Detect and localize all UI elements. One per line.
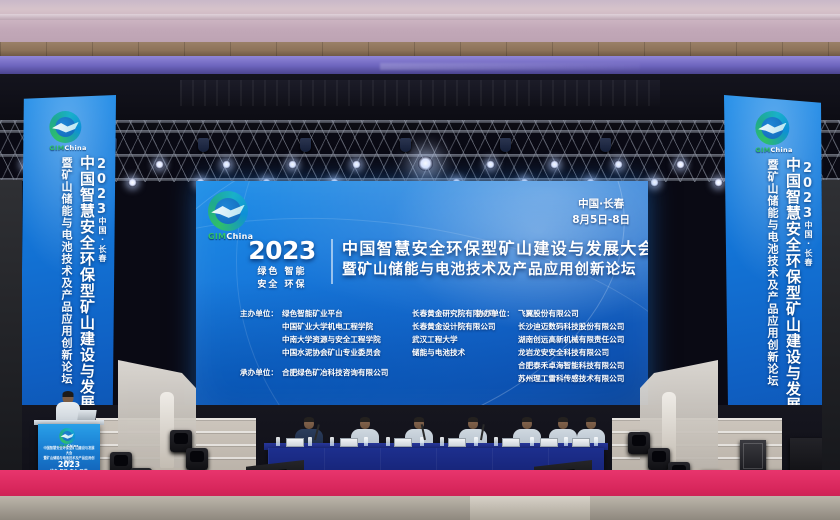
name-plate (572, 438, 590, 447)
stage-side-panel-right (822, 180, 840, 470)
host-org: 中南大学资源与安全工程学院 (278, 333, 408, 346)
equipment-flight-case (740, 440, 766, 472)
stage-lamp-bright (418, 156, 433, 171)
banner-right-location: 中国·长春 (804, 221, 812, 267)
coorganizer-org: 飞翼股份有限公司 (514, 307, 579, 320)
stage-lamp (614, 160, 623, 169)
pa-speaker-stack (790, 438, 824, 474)
water-bottle (564, 437, 568, 446)
coorganizer-org: 苏州理工雷科传感技术有限公司 (464, 372, 634, 385)
water-bottle (474, 437, 478, 446)
event-slogan-line2: 安全 环保 (239, 279, 325, 292)
lighting-truss (0, 120, 840, 182)
name-plate (394, 438, 412, 447)
moving-head-light (400, 138, 411, 152)
name-plate (340, 438, 358, 447)
water-bottle (364, 437, 368, 446)
event-location-date: 中国·长春 8月5日-8日 (572, 197, 630, 229)
host-org: 绿色智能矿业平台 (278, 307, 408, 320)
event-title-sub: 暨矿山储能与电池技术及产品应用创新论坛 (342, 261, 648, 280)
name-plate (286, 438, 304, 447)
moving-head-floor-light (186, 448, 208, 470)
water-bottle (594, 437, 598, 446)
conference-stage-photo: GIMChina 2023 中国·长春 中国智慧安全环保型矿山建设与发展大会 暨… (0, 0, 840, 520)
water-bottle (530, 437, 534, 446)
gim-logo-banner-right: GIMChina (755, 111, 792, 154)
banner-right-title: 中国智慧安全环保型矿山建设与发展大会 (785, 157, 800, 445)
ceiling-purple-light-strip (0, 56, 840, 74)
moving-head-light (198, 138, 209, 152)
water-bottle (330, 437, 334, 446)
coorganizer-org: 合肥泰禾卓海智能科技有限公司 (464, 359, 634, 372)
name-plate (540, 438, 558, 447)
host-org: 中国矿业大学机电工程学院 (278, 320, 408, 333)
coorganizer-label: 协办单位： (464, 307, 514, 320)
stage-lamp (222, 160, 231, 169)
coorganizers-block: 协办单位： 飞翼股份有限公司 长沙迪迈数码科技股份有限公司 湖南创远高新机械有限… (464, 307, 634, 385)
stage-apron (0, 496, 840, 520)
stage-lamp (352, 160, 361, 169)
water-bottle (386, 437, 390, 446)
moving-head-light (500, 138, 511, 152)
stage-lamp (676, 160, 685, 169)
event-title-main: 中国智慧安全环保型矿山建设与发展大会 (342, 239, 648, 259)
logo-wordmark-secondary: China (770, 146, 792, 154)
moving-head-floor-light (628, 432, 650, 454)
event-year: 2023 (239, 238, 325, 263)
stage-lamp (550, 160, 559, 169)
podium-laptop (77, 410, 96, 420)
banner-right-year: 2023 (801, 161, 814, 221)
stage-lamp (288, 160, 297, 169)
moving-head-light (600, 138, 611, 152)
logo-wordmark-primary: GIM (208, 232, 226, 241)
podium-title-line1: 中国智慧安全环保型矿山建设与发展大会 (42, 446, 96, 456)
event-dates: 8月5日-8日 (572, 213, 630, 229)
coorganizer-org: 长沙迪迈数码科技股份有限公司 (464, 320, 634, 333)
led-backdrop-screen: GIMChina 中国·长春 8月5日-8日 2023 绿色 智能 安全 环保 … (196, 181, 648, 413)
ceiling-tan-band (0, 42, 840, 56)
host-org: 中国水泥协会矿山专业委员会 (278, 346, 408, 359)
name-plate (502, 438, 520, 447)
event-year-block: 2023 绿色 智能 安全 环保 (239, 238, 325, 292)
event-slogan-line1: 绿色 智能 (239, 266, 325, 279)
event-location: 中国·长春 (572, 197, 630, 213)
banner-right-subtitle: 暨矿山储能与电池技术及产品应用创新论坛 (767, 159, 778, 387)
ceiling-cornice (0, 14, 840, 20)
stage-lamp (650, 178, 659, 187)
moving-head-floor-light (648, 448, 670, 470)
water-bottle (440, 437, 444, 446)
logo-wordmark-secondary: China (64, 144, 86, 152)
podium-year: 2023 (38, 460, 100, 469)
logo-wordmark-primary: GIM (755, 146, 770, 154)
host-label: 主办单位： (226, 307, 278, 320)
stage-lamp (486, 160, 495, 169)
water-bottle (276, 437, 280, 446)
hall-balcony (180, 80, 660, 106)
event-title-block: 中国智慧安全环保型矿山建设与发展大会 暨矿山储能与电池技术及产品应用创新论坛 (342, 239, 648, 280)
gim-logo-banner-left: GIMChina (49, 111, 86, 152)
stage-lamp (714, 178, 723, 187)
hall-ceiling (0, 0, 840, 42)
gim-logo-screen: GIMChina (208, 191, 253, 241)
coorganizer-org: 湖南创远高新机械有限责任公司 (464, 333, 634, 346)
logo-wordmark-primary: GIM (49, 144, 64, 152)
stage-lamp (155, 160, 164, 169)
undertaker-label: 承办单位： (226, 366, 278, 379)
banner-left-subtitle: 暨矿山储能与电池技术及产品应用创新论坛 (61, 157, 72, 385)
title-divider (331, 239, 333, 284)
table-items (268, 434, 604, 446)
banner-left-year: 2023 (95, 157, 108, 217)
name-plate (448, 438, 466, 447)
coorganizer-org: 龙岩龙安安全科技有限公司 (464, 346, 634, 359)
water-bottle (308, 437, 312, 446)
banner-left-location: 中国·长春 (98, 217, 106, 263)
stage-side-panel-left (0, 180, 22, 480)
stage-lamp (128, 178, 137, 187)
water-bottle (494, 437, 498, 446)
moving-head-light (300, 138, 311, 152)
gim-logo-podium: GIMChina (59, 428, 79, 448)
